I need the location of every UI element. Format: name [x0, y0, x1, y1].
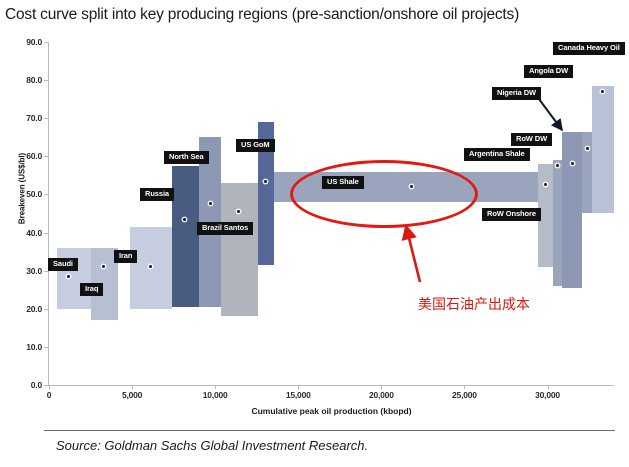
y-tick-mark — [44, 385, 48, 386]
series-label-iraq[interactable]: Iraq — [80, 283, 103, 296]
y-tick-mark — [44, 42, 48, 43]
x-axis-title: Cumulative peak oil production (kbopd) — [49, 406, 614, 416]
series-label-argentina-shale[interactable]: Argentina Shale — [464, 148, 530, 161]
x-tick-label: 15,000 — [268, 390, 328, 400]
y-tick-mark — [44, 347, 48, 348]
y-tick-mark — [44, 80, 48, 81]
series-label-angola-dw[interactable]: Angola DW — [524, 65, 573, 78]
x-tick-label: 20,000 — [351, 390, 411, 400]
y-tick-label: 60.0 — [2, 151, 42, 161]
x-tick-label: 5,000 — [102, 390, 162, 400]
bar-saudi[interactable] — [57, 248, 91, 309]
y-tick-label: 50.0 — [2, 189, 42, 199]
series-label-row-dw[interactable]: RoW DW — [511, 133, 552, 146]
y-tick-label: 20.0 — [2, 304, 42, 314]
x-tick-mark — [548, 385, 549, 389]
chart-title: Cost curve split into key producing regi… — [5, 6, 629, 24]
series-label-russia[interactable]: Russia — [140, 188, 174, 201]
x-tick-mark — [464, 385, 465, 389]
us-shale-highlight-ellipse — [290, 160, 478, 228]
x-tick-label: 25,000 — [434, 390, 494, 400]
y-tick-mark — [44, 194, 48, 195]
y-tick-label: 70.0 — [2, 113, 42, 123]
series-label-brazil-santos[interactable]: Brazil Santos — [197, 222, 253, 235]
bar-angola-dw[interactable] — [582, 132, 592, 214]
y-tick-mark — [44, 309, 48, 310]
y-tick-label: 10.0 — [2, 342, 42, 352]
data-point-canada-heavy-oil — [601, 90, 604, 93]
x-tick-label: 10,000 — [185, 390, 245, 400]
y-tick-mark — [44, 233, 48, 234]
chinese-callout-text: 美国石油产出成本 — [418, 294, 530, 314]
y-tick-mark — [44, 156, 48, 157]
y-tick-label: 40.0 — [2, 228, 42, 238]
series-label-nigeria-dw[interactable]: Nigeria DW — [492, 87, 541, 100]
series-label-us-gom[interactable]: US GoM — [236, 139, 275, 152]
x-tick-label: 0 — [19, 390, 79, 400]
plot-container: Breakeven (US$/bl) Cumulative peak oil p… — [0, 34, 629, 424]
x-tick-mark — [132, 385, 133, 389]
bar-canada-heavy-oil[interactable] — [592, 86, 614, 214]
x-tick-mark — [49, 385, 50, 389]
bar-brazil-santos[interactable] — [221, 183, 258, 316]
source-note: Source: Goldman Sachs Global Investment … — [56, 438, 368, 453]
bar-nigeria-dw[interactable] — [553, 160, 563, 286]
y-tick-label: 90.0 — [2, 37, 42, 47]
x-tick-mark — [215, 385, 216, 389]
series-label-us-shale[interactable]: US Shale — [322, 176, 364, 189]
footer-divider — [44, 430, 615, 431]
series-label-row-onshore[interactable]: RoW Onshore — [482, 208, 541, 221]
series-label-saudi[interactable]: Saudi — [48, 258, 78, 271]
x-tick-mark — [298, 385, 299, 389]
y-tick-label: 0.0 — [2, 380, 42, 390]
bar-russia[interactable] — [172, 166, 199, 307]
y-tick-label: 30.0 — [2, 266, 42, 276]
y-tick-mark — [44, 118, 48, 119]
x-tick-label: 30,000 — [518, 390, 578, 400]
chart-screenshot: Cost curve split into key producing regi… — [0, 0, 629, 467]
series-label-north-sea[interactable]: North Sea — [164, 151, 209, 164]
bar-row-dw[interactable] — [562, 132, 582, 288]
y-tick-label: 80.0 — [2, 75, 42, 85]
data-point-russia — [183, 218, 186, 221]
series-label-iran[interactable]: Iran — [114, 250, 137, 263]
series-label-canada-heavy-oil[interactable]: Canada Heavy Oil — [553, 42, 625, 55]
x-tick-mark — [381, 385, 382, 389]
